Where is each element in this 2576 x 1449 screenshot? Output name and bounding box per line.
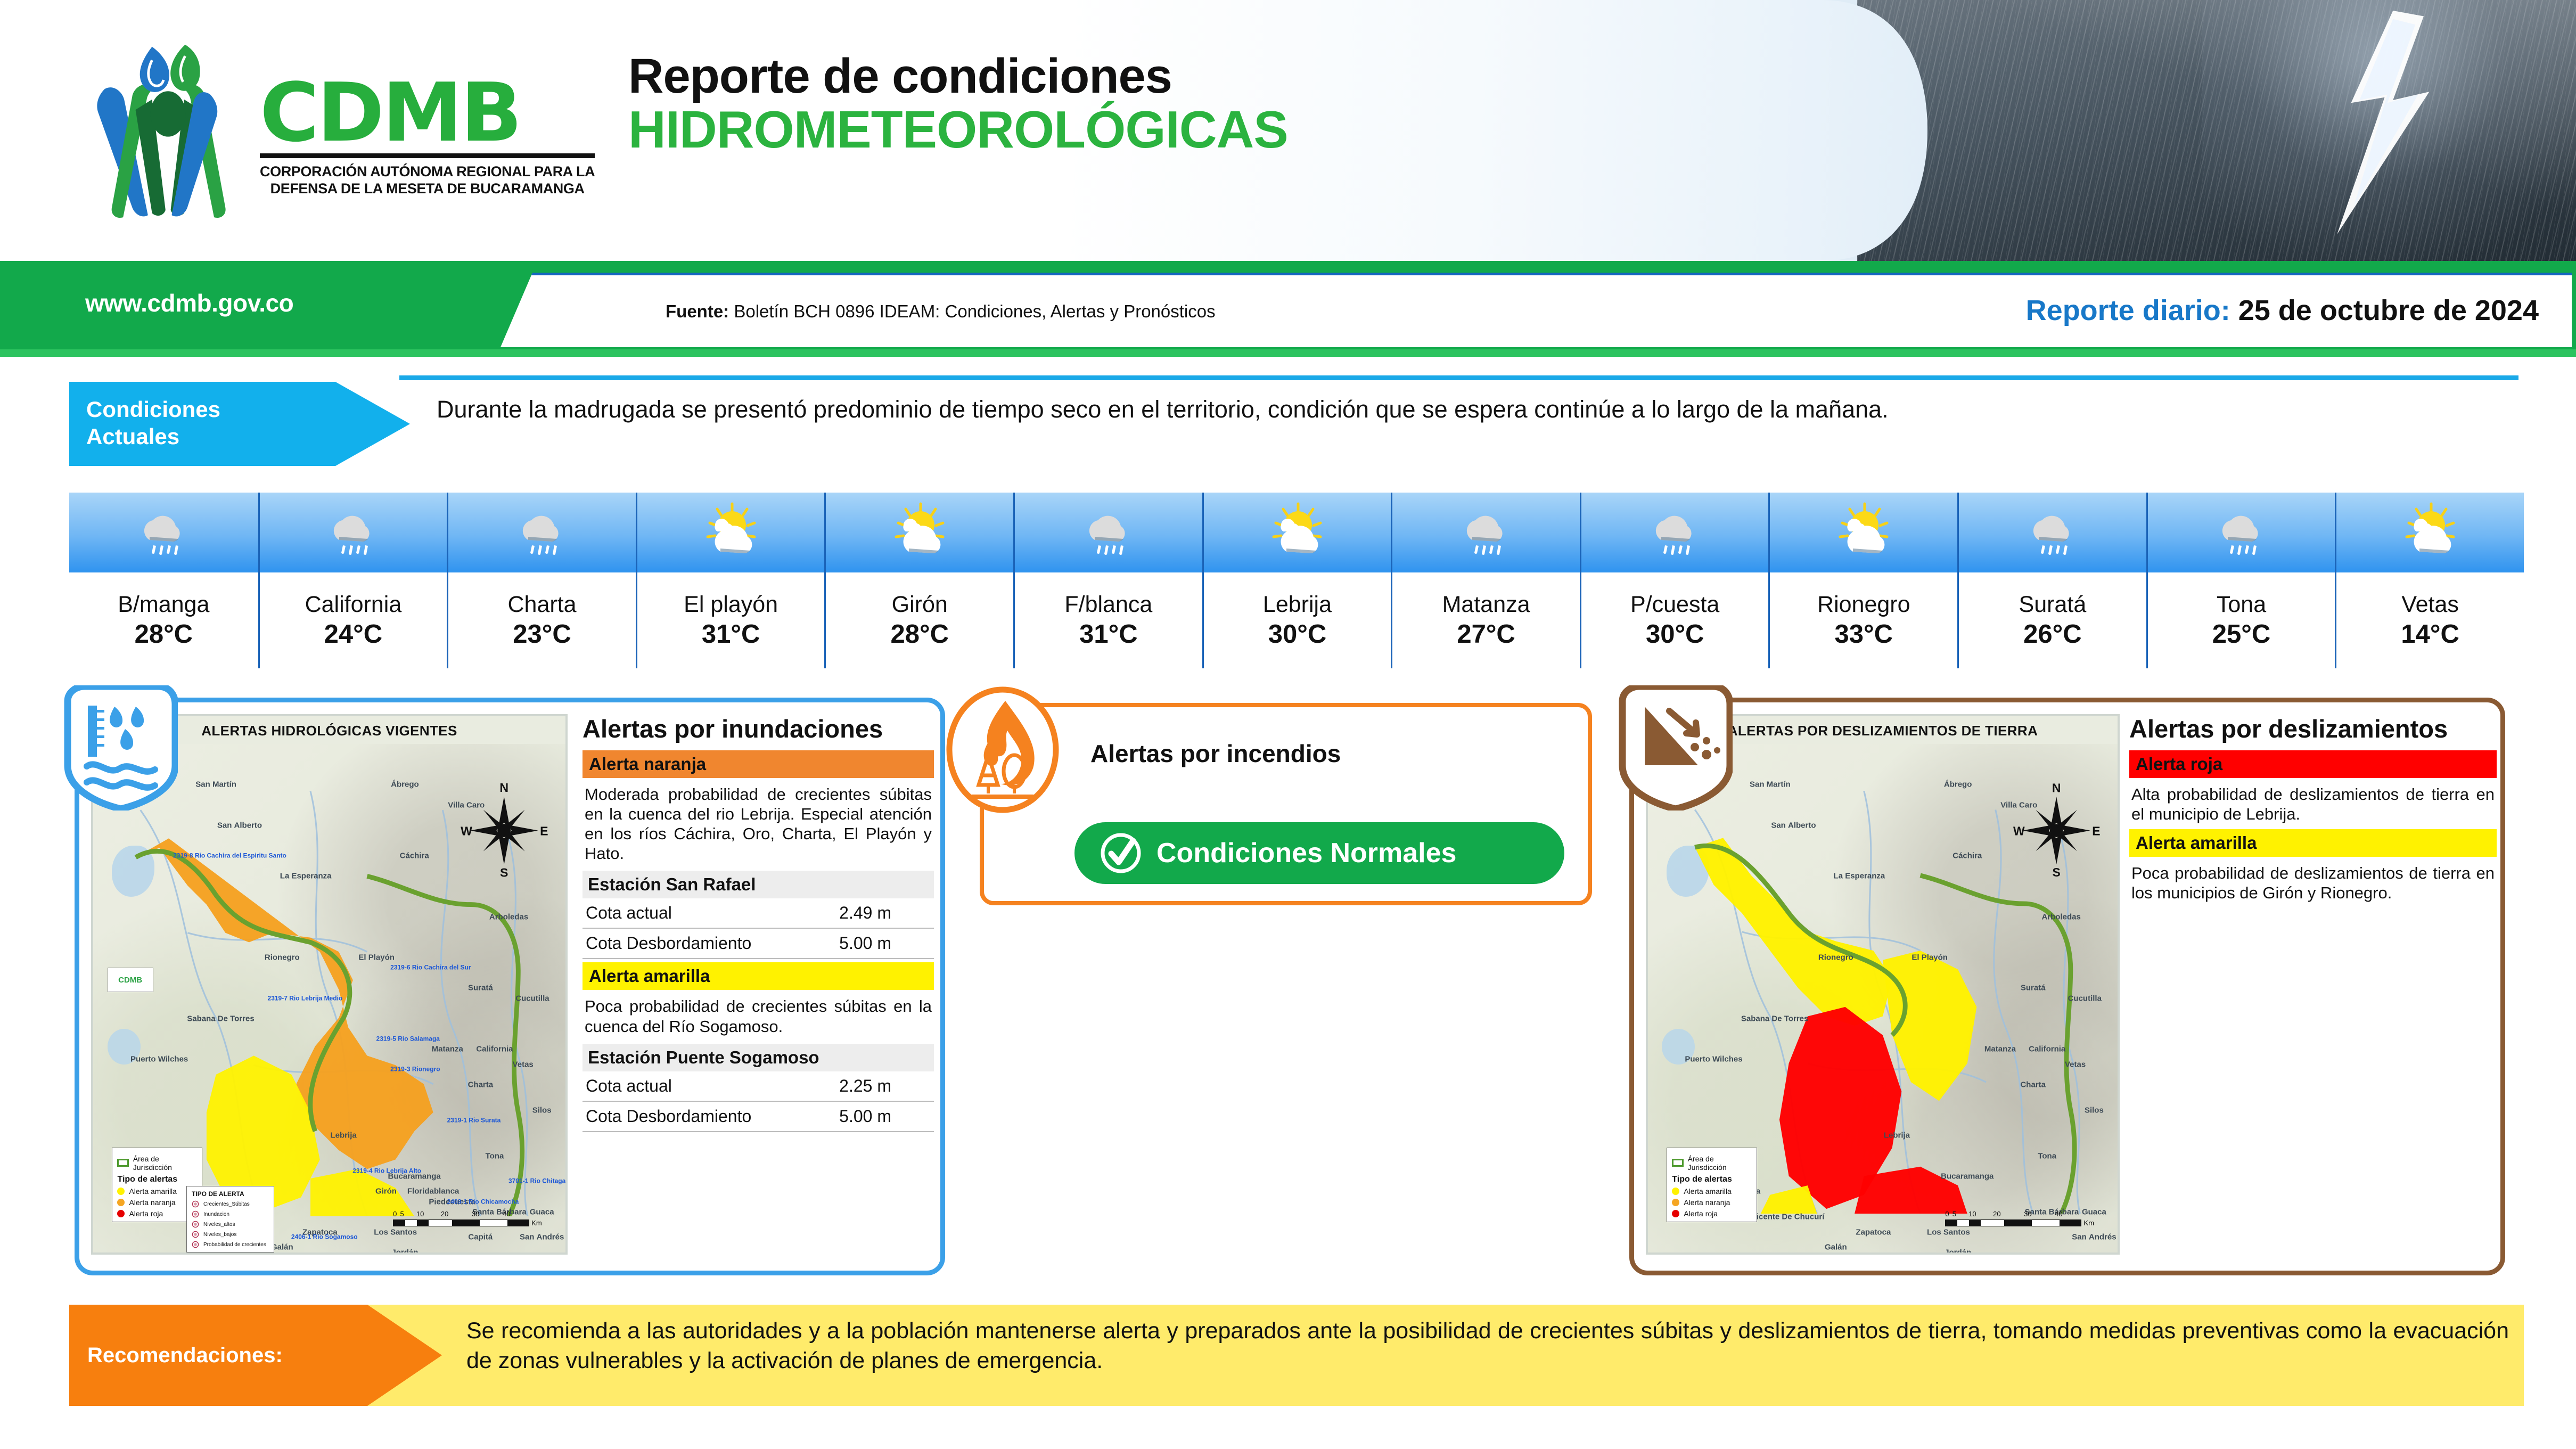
- forecast-cell-charta: Charta 23°C: [447, 493, 636, 668]
- map-place-label: Suratá: [2021, 984, 2046, 993]
- map-place-label: Silos: [532, 1106, 552, 1115]
- station-data-value: 5.00 m: [839, 934, 929, 953]
- map-place-label: Lebrija: [331, 1131, 357, 1140]
- map-place-label: San Martín: [1750, 780, 1791, 789]
- current-conditions-text: Durante la madrugada se presentó predomi…: [437, 395, 2534, 424]
- forecast-city: F/blanca: [1064, 593, 1152, 616]
- forecast-icon-slot: [2146, 493, 2335, 572]
- forecast-temp: 14°C: [2401, 619, 2459, 650]
- legend-item: Alerta amarilla: [1672, 1187, 1752, 1196]
- sun-cloud-icon: [2398, 501, 2462, 564]
- logo-subtitle-line2: DEFENSA DE LA MESETA DE BUCARAMANGA: [260, 181, 595, 198]
- station-data-label: Cota actual: [586, 903, 672, 923]
- svg-text:S: S: [500, 865, 508, 879]
- forecast-cell-rionegro: Rionegro 33°C: [1768, 493, 1957, 668]
- alert-level-badge: Alerta naranja: [583, 750, 934, 778]
- legend-color-swatch: [117, 1199, 125, 1206]
- compass-rose-icon: N S W E: [457, 769, 551, 891]
- alert-type-legend: TIPO DE ALERTA Crecientes_Súbitas Inunda…: [186, 1186, 274, 1252]
- map-place-label: Tona: [486, 1151, 504, 1160]
- map-place-label: Arboledas: [489, 912, 528, 921]
- forecast-cell-gir-n: Girón 28°C: [824, 493, 1013, 668]
- forecast-temp: 25°C: [2212, 619, 2270, 650]
- legend-label: Alerta naranja: [1684, 1198, 1730, 1207]
- source-label: Fuente:: [666, 301, 729, 321]
- alert-type-symbol-icon: [192, 1210, 199, 1218]
- recommendations-section: Se recomienda a las autoridades y a la p…: [69, 1305, 2524, 1406]
- map-place-label: California: [476, 1045, 513, 1054]
- map-place-label: Ábrego: [391, 780, 419, 789]
- map-place-label: Zapatoca: [1856, 1227, 1891, 1237]
- landslide-icon: [1618, 685, 1733, 811]
- map-place-label: Puerto Wilches: [1685, 1055, 1742, 1064]
- current-conditions-tag-line1: Condiciones: [86, 396, 410, 423]
- forecast-icon-slot: [1202, 493, 1391, 572]
- recommendations-tag: Recomendaciones:: [69, 1305, 442, 1406]
- current-conditions-tag: Condiciones Actuales: [69, 382, 410, 466]
- sun-cloud-icon: [699, 501, 763, 564]
- info-bar-bottom-accent: [0, 349, 2576, 357]
- current-conditions-section: Condiciones Actuales Durante la madrugad…: [69, 375, 2518, 466]
- alert-level-badge: Alerta amarilla: [2129, 829, 2497, 857]
- forecast-cell-p-cuesta: P/cuesta 30°C: [1580, 493, 1769, 668]
- map-scale-bar: 0510203040 Km: [393, 1210, 542, 1227]
- report-date-label: Reporte diario:: [2026, 294, 2230, 326]
- forecast-strip: B/manga 28°C California 24°C Charta 23°: [69, 493, 2524, 668]
- page-header: CDMB CORPORACIÓN AUTÓNOMA REGIONAL PARA …: [0, 0, 2576, 261]
- recommendations-text: Se recomienda a las autoridades y a la p…: [367, 1305, 2524, 1406]
- map-place-label: Cucutilla: [515, 994, 549, 1003]
- map-place-label: Cucutilla: [2068, 994, 2102, 1003]
- rain-cloud-icon: [2021, 501, 2085, 564]
- forecast-icon-slot: [1013, 493, 1202, 572]
- map-river-label: 2319-3 Rionegro: [390, 1066, 438, 1073]
- alert-type-item: Probabilidad de crecientes: [192, 1241, 269, 1248]
- alert-type-label: Niveles_bajos: [203, 1232, 236, 1238]
- forecast-cell-lebrija: Lebrija 30°C: [1202, 493, 1391, 668]
- forecast-temp: 28°C: [891, 619, 949, 650]
- map-place-label: Bucaramanga: [1941, 1172, 1993, 1181]
- legend-color-swatch: [117, 1210, 125, 1217]
- station-name: Estación Puente Sogamoso: [583, 1044, 934, 1071]
- forecast-labels: El playón 31°C: [636, 572, 825, 668]
- station-data-value: 5.00 m: [839, 1107, 929, 1126]
- alert-description: Alta probabilidad de deslizamientos de t…: [2129, 778, 2497, 826]
- sun-cloud-icon: [1832, 501, 1896, 564]
- station-data-value: 2.49 m: [839, 903, 929, 923]
- station-name: Estación San Rafael: [583, 871, 934, 898]
- forecast-temp: 23°C: [513, 619, 571, 650]
- legend-label: Alerta amarilla: [129, 1187, 176, 1196]
- forecast-city: Girón: [892, 593, 948, 616]
- map-river-label: 2319-5 Rio Salamaga: [376, 1035, 424, 1042]
- map-place-label: Galán: [271, 1243, 293, 1252]
- legend-jurisdiction: Área de Jurisdicción: [117, 1155, 197, 1172]
- forecast-city: Suratá: [2019, 593, 2087, 616]
- forecast-labels: F/blanca 31°C: [1013, 572, 1202, 668]
- alert-description: Poca probabilidad de crecientes súbitas …: [583, 990, 934, 1038]
- forecast-cell-surat-: Suratá 26°C: [1957, 493, 2146, 668]
- forecast-city: Vetas: [2401, 593, 2459, 616]
- map-place-label: San Martín: [195, 780, 236, 789]
- source-text: Fuente: Boletín BCH 0896 IDEAM: Condicio…: [666, 301, 1216, 322]
- forecast-icon-slot: [1391, 493, 1580, 572]
- map-place-label: Suratá: [468, 984, 493, 993]
- page-title: Reporte de condiciones HIDROMETEOROLÓGIC…: [628, 51, 1288, 157]
- map-river-label: 2319-6 Rio Cachira del Sur: [390, 964, 438, 971]
- current-conditions-tag-line2: Actuales: [86, 423, 410, 450]
- legend-types-title: Tipo de alertas: [117, 1175, 197, 1184]
- flood-alerts-card: ALERTAS HIDROLÓGICAS VIGENTES San Martín…: [75, 698, 945, 1275]
- map-river-label: 3701-1 Rio Chitaga: [508, 1178, 556, 1185]
- alert-type-label: Probabilidad de crecientes: [203, 1242, 266, 1248]
- map-place-label: California: [2029, 1045, 2065, 1054]
- station-data-row: Cota actual 2.49 m: [583, 898, 934, 929]
- rain-cloud-icon: [321, 501, 385, 564]
- legend-jurisdiction: Área de Jurisdicción: [1672, 1155, 1752, 1172]
- forecast-icon-slot: [636, 493, 825, 572]
- alert-type-item: Niveles_bajos: [192, 1231, 269, 1238]
- forecast-icon-slot: [258, 493, 447, 572]
- forecast-icon-slot: [1768, 493, 1957, 572]
- legend-label: Alerta naranja: [129, 1198, 175, 1207]
- forecast-cell-b-manga: B/manga 28°C: [69, 493, 258, 668]
- map-place-label: Girón: [375, 1187, 397, 1196]
- legend-color-swatch: [1672, 1199, 1679, 1206]
- map-place-label: Capitá: [468, 1233, 493, 1242]
- forecast-labels: Matanza 27°C: [1391, 572, 1580, 668]
- forecast-city: Rionegro: [1817, 593, 1910, 616]
- forecast-temp: 27°C: [1457, 619, 1515, 650]
- forecast-labels: Vetas 14°C: [2335, 572, 2524, 668]
- title-line-1: Reporte de condiciones: [628, 51, 1288, 103]
- map-place-label: Vetas: [513, 1060, 534, 1069]
- legend-types-title: Tipo de alertas: [1672, 1175, 1752, 1184]
- station-data-row: Cota Desbordamiento 5.00 m: [583, 1102, 934, 1132]
- station-data-row: Cota Desbordamiento 5.00 m: [583, 929, 934, 959]
- map-place-label: Charta: [468, 1080, 494, 1089]
- alert-level-badge: Alerta amarilla: [583, 962, 934, 990]
- forecast-icon-slot: [2335, 493, 2524, 572]
- map-place-label: Vetas: [2065, 1060, 2086, 1069]
- forecast-cell-f-blanca: F/blanca 31°C: [1013, 493, 1202, 668]
- forecast-temp: 26°C: [2023, 619, 2081, 650]
- forecast-icon-slot: [69, 493, 258, 572]
- forecast-labels: P/cuesta 30°C: [1580, 572, 1769, 668]
- website-url[interactable]: www.cdmb.gov.co: [85, 289, 293, 317]
- forecast-labels: Girón 28°C: [824, 572, 1013, 668]
- alert-block: Alerta roja Alta probabilidad de desliza…: [2129, 750, 2497, 826]
- legend-item: Alerta naranja: [117, 1198, 197, 1207]
- svg-text:N: N: [499, 781, 508, 795]
- alert-type-item: Niveles_altos: [192, 1221, 269, 1228]
- alert-block: Alerta amarilla Poca probabilidad de cre…: [583, 962, 934, 1132]
- forecast-city: Lebrija: [1263, 593, 1332, 616]
- station-data-row: Cota actual 2.25 m: [583, 1071, 934, 1102]
- map-river-label: 2403-1 Rio Chicamocha: [447, 1198, 495, 1205]
- jurisdiction-swatch: [1672, 1159, 1683, 1167]
- check-circle-icon: [1098, 830, 1144, 876]
- forecast-cell-tona: Tona 25°C: [2146, 493, 2335, 668]
- map-place-label: San Alberto: [1771, 821, 1816, 830]
- rain-cloud-icon: [1077, 501, 1141, 564]
- legend-color-swatch: [117, 1188, 125, 1195]
- legend-item: Alerta naranja: [1672, 1198, 1752, 1207]
- legend-item: Alerta amarilla: [117, 1187, 197, 1196]
- forecast-city: California: [305, 593, 402, 616]
- alert-type-label: Crecientes_Súbitas: [203, 1201, 250, 1207]
- svg-text:E: E: [540, 824, 548, 838]
- forecast-icon-slot: [1957, 493, 2146, 572]
- rain-cloud-icon: [510, 501, 574, 564]
- fire-alerts-heading: Alertas por incendios: [1090, 740, 1341, 768]
- map-river-label: 2319-4 Rio Lebrija Alto: [352, 1168, 400, 1175]
- forest-fire-icon: [946, 686, 1060, 814]
- map-place-label: El Playón: [358, 953, 395, 962]
- legend-color-swatch: [1672, 1210, 1679, 1217]
- landslide-alerts-card: ALERTAS POR DESLIZAMIENTOS DE TIERRA San…: [1629, 698, 2505, 1275]
- alert-type-item: Crecientes_Súbitas: [192, 1200, 269, 1208]
- forecast-labels: Suratá 26°C: [1957, 572, 2146, 668]
- map-place-label: Los Santos: [1927, 1227, 1970, 1237]
- alert-level-badge: Alerta roja: [2129, 750, 2497, 778]
- legend-item: Alerta roja: [117, 1209, 197, 1218]
- forecast-labels: Lebrija 30°C: [1202, 572, 1391, 668]
- forecast-labels: Tona 25°C: [2146, 572, 2335, 668]
- forecast-labels: B/manga 28°C: [69, 572, 258, 668]
- logo-divider: [260, 153, 595, 158]
- map-river-label: 2406-1 Rio Sogamoso: [291, 1234, 339, 1241]
- map-place-label: Tona: [2038, 1151, 2056, 1160]
- map-place-label: Lebrija: [1884, 1131, 1910, 1140]
- forecast-temp: 30°C: [1646, 619, 1704, 650]
- svg-text:W: W: [461, 824, 472, 838]
- legend-label: Alerta roja: [129, 1209, 163, 1218]
- alert-type-legend-title: TIPO DE ALERTA: [192, 1190, 269, 1198]
- forecast-temp: 30°C: [1268, 619, 1326, 650]
- map-legend: Área de Jurisdicción Tipo de alertas Ale…: [1667, 1148, 1757, 1222]
- current-conditions-top-accent: [399, 375, 2518, 380]
- logo-acronym: CDMB: [260, 78, 595, 148]
- map-place-label: San Alberto: [217, 821, 262, 830]
- station-data-value: 2.25 m: [839, 1076, 929, 1096]
- map-place-label: Jordán: [1945, 1248, 1971, 1255]
- alert-description: Moderada probabilidad de crecientes súbi…: [583, 778, 934, 866]
- report-date-value: 25 de octubre de 2024: [2238, 294, 2539, 326]
- forecast-labels: California 24°C: [258, 572, 447, 668]
- flood-alerts-heading: Alertas por inundaciones: [583, 715, 934, 743]
- alert-type-label: Inundacion: [203, 1211, 229, 1217]
- storm-photo: [1857, 0, 2576, 261]
- map-place-label: Galán: [1825, 1243, 1847, 1252]
- fire-status-badge: Condiciones Normales: [1074, 822, 1564, 884]
- map-place-label: San Andrés: [2072, 1233, 2116, 1242]
- landslide-alerts-heading: Alertas por deslizamientos: [2129, 715, 2497, 743]
- map-place-label: Sabana De Torres: [187, 1014, 254, 1023]
- report-date-line: Reporte diario: 25 de octubre de 2024: [2026, 294, 2539, 327]
- map-watermark-logo: CDMB: [108, 968, 153, 992]
- forecast-cell-matanza: Matanza 27°C: [1391, 493, 1580, 668]
- map-place-label: Cáchira: [1952, 852, 1982, 861]
- forecast-icon-slot: [447, 493, 636, 572]
- sun-cloud-icon: [888, 501, 951, 564]
- legend-item: Alerta roja: [1672, 1209, 1752, 1218]
- info-bar: www.cdmb.gov.co Fuente: Boletín BCH 0896…: [0, 261, 2576, 357]
- map-river-label: 2319-8 Rio Cachira del Espiritu Santo: [173, 853, 221, 859]
- map-place-label: Los Santos: [374, 1227, 417, 1237]
- station-data-label: Cota Desbordamiento: [586, 1107, 751, 1126]
- station-data-label: Cota Desbordamiento: [586, 934, 751, 953]
- forecast-city: B/manga: [118, 593, 209, 616]
- cdmb-logo: CDMB CORPORACIÓN AUTÓNOMA REGIONAL PARA …: [75, 29, 607, 232]
- forecast-cell-el-play-n: El playón 31°C: [636, 493, 825, 668]
- alert-description: Poca probabilidad de deslizamientos de t…: [2129, 857, 2497, 905]
- map-place-label: Sabana De Torres: [1741, 1014, 1808, 1023]
- forecast-temp: 31°C: [702, 619, 760, 650]
- map-place-label: Rionegro: [1818, 953, 1853, 962]
- forecast-city: Charta: [507, 593, 576, 616]
- map-place-label: Floridablanca: [407, 1187, 460, 1196]
- legend-label: Alerta roja: [1684, 1209, 1718, 1218]
- title-line-2: HIDROMETEOROLÓGICAS: [628, 103, 1288, 157]
- map-place-label: Silos: [2085, 1106, 2104, 1115]
- map-place-label: Jordán: [391, 1248, 418, 1255]
- map-place-label: Matanza: [1984, 1045, 2016, 1054]
- forecast-labels: Rionegro 33°C: [1768, 572, 1957, 668]
- svg-text:W: W: [2013, 824, 2025, 838]
- forecast-temp: 28°C: [135, 619, 193, 650]
- forecast-temp: 24°C: [324, 619, 382, 650]
- forecast-city: Tona: [2217, 593, 2266, 616]
- forecast-cell-vetas: Vetas 14°C: [2335, 493, 2524, 668]
- map-place-label: Charta: [2020, 1080, 2046, 1089]
- rain-cloud-icon: [2210, 501, 2274, 564]
- map-place-label: La Esperanza: [1834, 872, 1885, 881]
- logo-subtitle-line1: CORPORACIÓN AUTÓNOMA REGIONAL PARA LA: [260, 163, 595, 181]
- map-river-label: 2319-1 Rio Surata: [447, 1117, 495, 1124]
- flood-alerts-column: Alertas por inundaciones Alerta naranja …: [583, 715, 934, 1132]
- fire-status-label: Condiciones Normales: [1156, 837, 1456, 869]
- forecast-city: El playón: [684, 593, 778, 616]
- legend-color-swatch: [1672, 1188, 1679, 1195]
- forecast-temp: 31°C: [1079, 619, 1137, 650]
- map-place-label: Ábrego: [1944, 780, 1972, 789]
- alert-type-symbol-icon: [192, 1241, 199, 1248]
- map-place-label: Matanza: [432, 1045, 463, 1054]
- legend-jurisdiction-label: Área de Jurisdicción: [133, 1155, 198, 1172]
- legend-jurisdiction-label: Área de Jurisdicción: [1688, 1155, 1752, 1172]
- alert-type-item: Inundacion: [192, 1210, 269, 1218]
- cdmb-logo-mark-icon: [75, 37, 250, 224]
- map-place-label: Cáchira: [400, 852, 429, 861]
- alert-block: Alerta naranja Moderada probabilidad de …: [583, 750, 934, 960]
- alert-type-label: Niveles_altos: [203, 1222, 235, 1227]
- forecast-icon-slot: [1580, 493, 1769, 572]
- alert-type-symbol-icon: [192, 1221, 199, 1228]
- rain-cloud-icon: [132, 501, 195, 564]
- water-level-gauge-icon: [63, 685, 178, 811]
- forecast-city: Matanza: [1442, 593, 1530, 616]
- source-value: Boletín BCH 0896 IDEAM: Condiciones, Ale…: [734, 301, 1215, 321]
- alert-type-symbol-icon: [192, 1200, 199, 1208]
- svg-text:E: E: [2092, 824, 2100, 838]
- station-data-label: Cota actual: [586, 1076, 672, 1096]
- alert-type-symbol-icon: [192, 1231, 199, 1238]
- legend-label: Alerta amarilla: [1684, 1187, 1731, 1196]
- forecast-temp: 33°C: [1835, 619, 1893, 650]
- svg-text:S: S: [2053, 865, 2061, 879]
- map-river-label: 2319-7 Rio Lebrija Medio: [268, 995, 316, 1002]
- jurisdiction-swatch: [117, 1159, 128, 1167]
- alert-block: Alerta amarilla Poca probabilidad de des…: [2129, 829, 2497, 905]
- fire-alerts-card: Alertas por incendios Condiciones Normal…: [980, 703, 1592, 905]
- map-place-label: Arboledas: [2041, 912, 2080, 921]
- map-scale-bar: 0510203040 Km: [1945, 1210, 2094, 1227]
- rain-cloud-icon: [1643, 501, 1707, 564]
- map-place-label: La Esperanza: [280, 872, 332, 881]
- forecast-labels: Charta 23°C: [447, 572, 636, 668]
- map-place-label: Rionegro: [265, 953, 300, 962]
- sun-cloud-icon: [1265, 501, 1329, 564]
- forecast-city: P/cuesta: [1630, 593, 1719, 616]
- forecast-cell-california: California 24°C: [258, 493, 447, 668]
- map-place-label: El Playón: [1912, 953, 1948, 962]
- landslide-alerts-column: Alertas por deslizamientos Alerta roja A…: [2129, 715, 2497, 905]
- compass-rose-icon: N S W E: [2009, 769, 2103, 891]
- rain-cloud-icon: [1454, 501, 1518, 564]
- svg-text:N: N: [2052, 781, 2061, 795]
- map-place-label: Puerto Wilches: [130, 1055, 188, 1064]
- map-place-label: San Andrés: [520, 1233, 564, 1242]
- forecast-icon-slot: [824, 493, 1013, 572]
